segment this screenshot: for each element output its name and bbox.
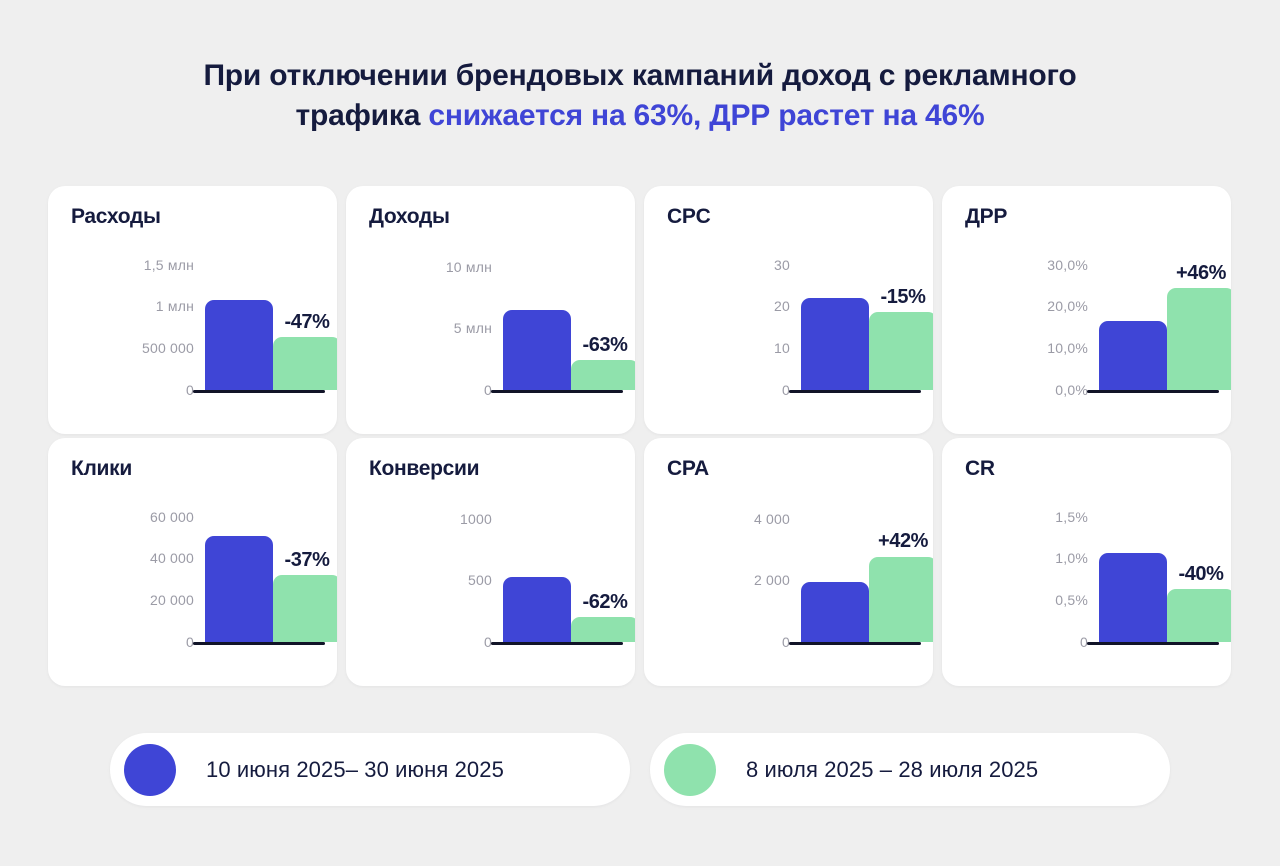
y-axis-tick-label: 10,0% [1047,340,1088,356]
metric-card-title: Доходы [369,205,450,229]
page-title-line2-accent: снижается на 63%, ДРР растет на 46% [428,99,984,132]
bar-period-a[interactable] [205,300,273,390]
metric-card: CPA02 0004 000+42% [644,438,933,686]
y-axis-tick-label: 20,0% [1047,298,1088,314]
chart-baseline [193,642,325,645]
chart-baseline [789,642,921,645]
bar-period-a[interactable] [1099,321,1167,390]
bar-period-a[interactable] [503,577,571,642]
bar-period-a[interactable] [801,582,869,642]
legend-dot-period-b-icon [664,744,716,796]
chart-baseline [789,390,921,393]
chart-baseline [193,390,325,393]
y-axis-tick-label: 1 млн [156,298,194,314]
bar-period-b[interactable] [273,337,337,390]
bar-period-b[interactable] [1167,589,1231,642]
delta-label: +42% [878,530,928,553]
page-title: При отключении брендовых кампаний доход … [50,56,1230,135]
bar-group [801,298,933,390]
metric-chart: 0500 0001 млн1,5 млн-47% [48,248,337,393]
metric-chart: 0102030-15% [644,248,933,393]
delta-label: -15% [880,286,925,309]
metric-cards-grid: Расходы0500 0001 млн1,5 млн-47%Доходы05 … [48,186,1232,686]
bar-period-a[interactable] [801,298,869,390]
metric-card: CR00,5%1,0%1,5%-40% [942,438,1231,686]
metric-chart: 00,5%1,0%1,5%-40% [942,500,1231,645]
bar-period-b[interactable] [273,575,337,642]
y-axis-tick-label: 2 000 [754,572,790,588]
chart-baseline [491,642,623,645]
legend-item-period-a[interactable]: 10 июня 2025– 30 июня 2025 [110,733,630,806]
delta-label: -63% [582,334,627,357]
y-axis-tick-label: 5 млн [454,320,492,336]
y-axis-tick-label: 1,0% [1055,550,1088,566]
y-axis-tick-label: 0,5% [1055,592,1088,608]
page-title-line1: При отключении брендовых кампаний доход … [203,59,1076,92]
bar-period-a[interactable] [1099,553,1167,642]
delta-label: -37% [284,549,329,572]
y-axis-tick-label: 10 [774,340,790,356]
y-axis-tick-label: 20 000 [150,592,194,608]
metric-card: Расходы0500 0001 млн1,5 млн-47% [48,186,337,434]
delta-label: -47% [284,311,329,334]
legend: 10 июня 2025– 30 июня 2025 8 июля 2025 –… [110,733,1170,806]
metric-card-title: Клики [71,457,132,481]
metric-card: ДРР0,0%10,0%20,0%30,0%+46% [942,186,1231,434]
y-axis-tick-label: 1,5% [1055,509,1088,525]
y-axis-tick-label: 20 [774,298,790,314]
legend-label-period-a: 10 июня 2025– 30 июня 2025 [206,757,504,783]
y-axis-tick-label: 30,0% [1047,257,1088,273]
y-axis-tick-label: 1,5 млн [144,257,194,273]
metric-card: Клики020 00040 00060 000-37% [48,438,337,686]
delta-label: +46% [1176,262,1226,285]
infographic-page: При отключении брендовых кампаний доход … [0,0,1280,866]
metric-card-title: Расходы [71,205,161,229]
bar-period-b[interactable] [571,360,635,390]
metric-chart: 05 млн10 млн-63% [346,248,635,393]
bar-group [801,557,933,643]
y-axis-tick-label: 30 [774,257,790,273]
metric-chart: 020 00040 00060 000-37% [48,500,337,645]
legend-label-period-b: 8 июля 2025 – 28 июля 2025 [746,757,1038,783]
bar-group [1099,288,1231,390]
y-axis-tick-label: 60 000 [150,509,194,525]
metric-card-title: Конверсии [369,457,479,481]
bar-period-a[interactable] [205,536,273,643]
metric-card: Доходы05 млн10 млн-63% [346,186,635,434]
metric-card: Конверсии05001000-62% [346,438,635,686]
chart-baseline [491,390,623,393]
delta-label: -62% [582,591,627,614]
y-axis-tick-label: 500 000 [142,340,194,356]
metric-chart: 0,0%10,0%20,0%30,0%+46% [942,248,1231,393]
metric-card-title: CPA [667,457,709,481]
legend-item-period-b[interactable]: 8 июля 2025 – 28 июля 2025 [650,733,1170,806]
metric-card: CPC0102030-15% [644,186,933,434]
y-axis-tick-label: 500 [468,572,492,588]
bar-period-b[interactable] [571,617,635,642]
bar-period-a[interactable] [503,310,571,390]
y-axis-tick-label: 0,0% [1055,382,1088,398]
y-axis-tick-label: 4 000 [754,511,790,527]
metric-card-title: ДРР [965,205,1007,229]
bar-period-b[interactable] [1167,288,1231,390]
page-title-line2-plain: трафика [296,99,429,132]
y-axis-tick-label: 40 000 [150,550,194,566]
chart-baseline [1087,642,1219,645]
legend-dot-period-a-icon [124,744,176,796]
delta-label: -40% [1178,563,1223,586]
metric-chart: 05001000-62% [346,500,635,645]
y-axis-tick-label: 1000 [460,511,492,527]
chart-baseline [1087,390,1219,393]
metric-chart: 02 0004 000+42% [644,500,933,645]
bar-period-b[interactable] [869,312,933,390]
metric-card-title: CR [965,457,995,481]
bar-period-b[interactable] [869,557,933,643]
metric-card-title: CPC [667,205,710,229]
y-axis-tick-label: 10 млн [446,259,492,275]
